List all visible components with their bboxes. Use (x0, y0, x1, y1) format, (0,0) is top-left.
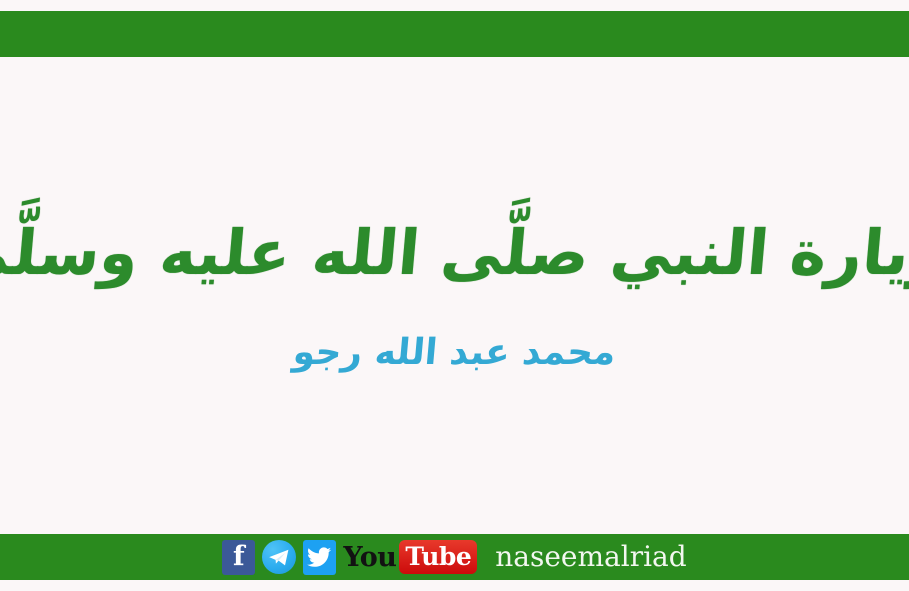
cover-content: زيارة النبي صلَّى الله عليه وسلَّم محمد … (0, 57, 909, 534)
page-title: زيارة النبي صلَّى الله عليه وسلَّم (0, 214, 909, 292)
social-footer: You Tube naseemalriad (0, 534, 909, 580)
twitter-icon[interactable] (303, 540, 336, 575)
facebook-icon[interactable] (222, 540, 255, 575)
youtube-you-text: You (343, 544, 396, 571)
youtube-icon[interactable]: You Tube (343, 540, 477, 575)
book-cover-page: زيارة النبي صلَّى الله عليه وسلَّم محمد … (0, 0, 909, 591)
youtube-tube-text: Tube (399, 540, 477, 574)
author-name: محمد عبد الله رجو (291, 330, 618, 377)
top-green-banner (0, 11, 909, 57)
telegram-icon[interactable] (262, 540, 296, 574)
channel-handle: naseemalriad (495, 543, 686, 571)
